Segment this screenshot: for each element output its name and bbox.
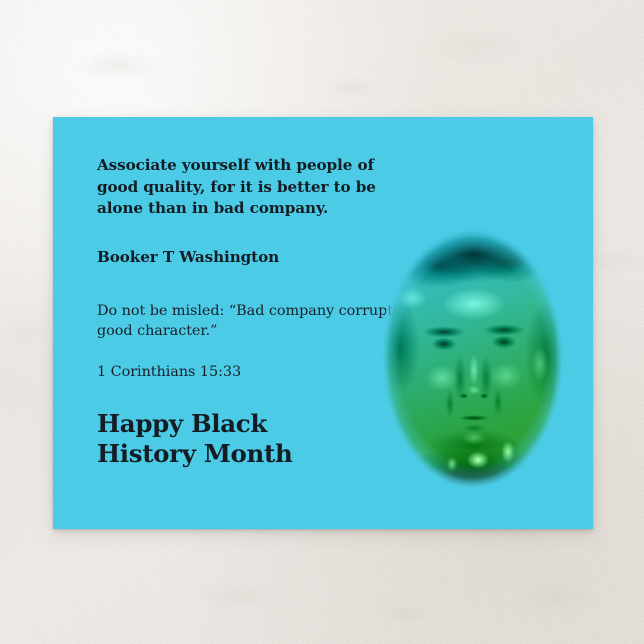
quote-attribution: Booker T Washington [97,247,407,268]
portrait-booker-t-washington [382,228,563,488]
postcard: Associate yourself with people of good q… [53,117,593,529]
scripture-text: Do not be misled: “Bad company corrupts … [97,301,407,341]
page-title: Happy Black History Month [97,409,407,469]
portrait-photo [382,228,563,488]
scripture-reference: 1 Corinthians 15:33 [97,362,407,382]
headline-line-1: Happy Black [97,409,407,439]
postcard-text-column: Associate yourself with people of good q… [97,155,407,469]
headline-line-2: History Month [97,439,407,469]
quote-text: Associate yourself with people of good q… [97,155,407,220]
portrait-color-wash-layer [382,228,563,488]
portrait-oval-frame [382,228,563,488]
